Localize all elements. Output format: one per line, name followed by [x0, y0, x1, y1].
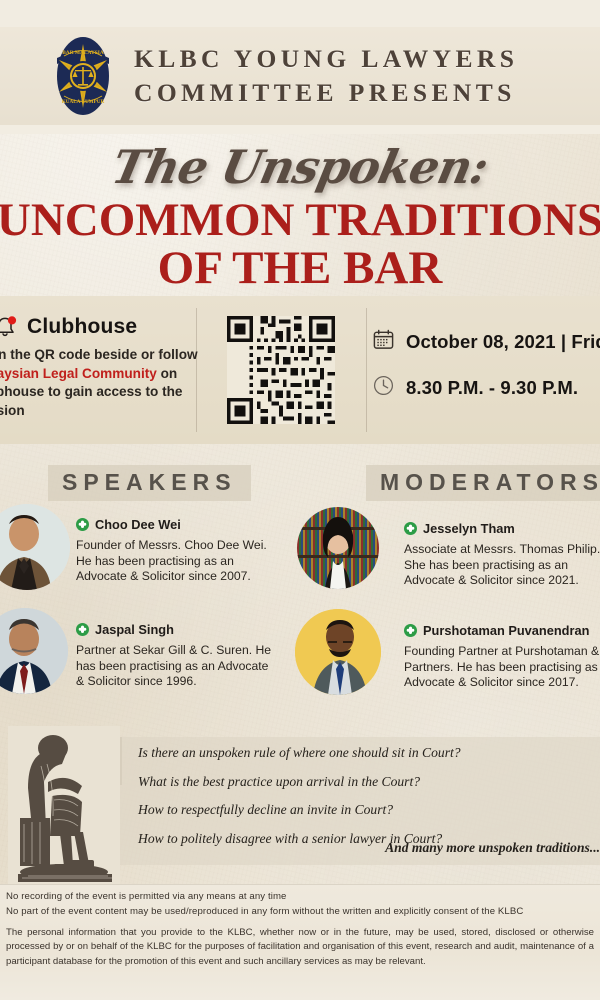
question-item: Is there an unspoken rule of where one s… [138, 745, 598, 761]
time-row: 8.30 P.M. - 9.30 P.M. [372, 374, 578, 402]
footer-line-2: No part of the event content may be used… [6, 906, 523, 917]
moderator-name-2: Purshotaman Puvanendran [423, 623, 589, 638]
qr-code-block[interactable] [196, 296, 366, 444]
header-top-edge [0, 0, 600, 27]
bar-malaysia-logo: BAR MALAYSIA KUALA LUMPUR [52, 34, 114, 118]
question-item: How to respectfully decline an invite in… [138, 802, 598, 818]
speaker-name-row-2: Jaspal Singh [76, 622, 174, 637]
logo-top-text: BAR MALAYSIA [62, 50, 104, 56]
avatar-purshotaman-puvanendran [295, 609, 381, 695]
datetime-info: October 08, 2021 | Friday 8.30 P.M. - 9.… [366, 296, 600, 444]
clubhouse-badge-icon [404, 522, 417, 535]
speaker-name-row-1: Choo Dee Wei [76, 517, 181, 532]
seated-philosopher-statue-icon [8, 726, 120, 886]
speaker-bio-1: Founder of Messrs. Choo Dee Wei. He has … [76, 538, 272, 585]
info-band: Clubhouse Scan the QR code beside or fol… [0, 296, 600, 444]
moderator-name-row-2: Purshotaman Puvanendran [404, 623, 589, 638]
title-zone: The Unspoken: UNCOMMON TRADITIONS OF THE… [0, 134, 600, 296]
bell-icon [0, 314, 18, 340]
clubhouse-text-part-1: Scan the QR code beside or follow [0, 347, 198, 362]
calendar-icon [372, 328, 395, 356]
footer-line-1: No recording of the event is permitted v… [6, 891, 287, 902]
clubhouse-info: Clubhouse Scan the QR code beside or fol… [0, 296, 196, 444]
presenter-heading: KLBC YOUNG LAWYERS COMMITTEE PRESENTS [134, 42, 518, 110]
clubhouse-heading-row: Clubhouse [0, 314, 137, 340]
date-row: October 08, 2021 | Friday [372, 328, 600, 356]
header-bottom-edge [0, 125, 600, 134]
presenter-line-1: KLBC YOUNG LAWYERS [134, 42, 518, 76]
moderator-name-row-1: Jesselyn Tham [404, 521, 515, 536]
footer-privacy-paragraph: The personal information that you provid… [6, 926, 594, 969]
moderator-name-1: Jesselyn Tham [423, 521, 515, 536]
moderator-bio-1: Associate at Messrs. Thomas Philip. She … [404, 542, 600, 589]
avatar-jesselyn-tham [297, 507, 379, 589]
question-item: What is the best practice upon arrival i… [138, 774, 598, 790]
clubhouse-title: Clubhouse [27, 315, 137, 339]
speaker-bio-2: Partner at Sekar Gill & C. Suren. He has… [76, 643, 272, 690]
avatar-jaspal-singh [0, 608, 68, 694]
moderators-heading: MODERATORS [366, 465, 600, 501]
event-poster: BAR MALAYSIA KUALA LUMPUR KLBC YOUNG LAW… [0, 0, 600, 1000]
moderator-bio-2: Founding Partner at Purshotaman & Partne… [404, 644, 600, 691]
speakers-heading: SPEAKERS [48, 465, 251, 501]
main-title-line-1: UNCOMMON TRADITIONS [0, 194, 600, 246]
clubhouse-badge-icon [404, 624, 417, 637]
header-band: BAR MALAYSIA KUALA LUMPUR KLBC YOUNG LAW… [0, 27, 600, 125]
clubhouse-community-name: Malaysian Legal Community [0, 366, 157, 381]
clubhouse-badge-icon [76, 518, 89, 531]
qr-code-icon[interactable] [227, 316, 335, 424]
clock-icon [372, 374, 395, 402]
event-time: 8.30 P.M. - 9.30 P.M. [406, 377, 578, 399]
clubhouse-badge-icon [76, 623, 89, 636]
clubhouse-instructions: Scan the QR code beside or follow Malays… [0, 346, 202, 420]
main-title-line-2: OF THE BAR [0, 244, 600, 292]
speaker-name-1: Choo Dee Wei [95, 517, 181, 532]
logo-bottom-text: KUALA LUMPUR [62, 99, 105, 105]
script-subtitle: The Unspoken: [0, 140, 600, 194]
avatar-choo-dee-wei [0, 504, 70, 590]
main-title: UNCOMMON TRADITIONS OF THE BAR [0, 196, 600, 292]
questions-closing-line: And many more unspoken traditions... [138, 840, 600, 856]
speaker-name-2: Jaspal Singh [95, 622, 174, 637]
footer-divider [0, 884, 600, 885]
event-date: October 08, 2021 | Friday [406, 331, 600, 353]
presenter-line-2: COMMITTEE PRESENTS [134, 76, 518, 110]
